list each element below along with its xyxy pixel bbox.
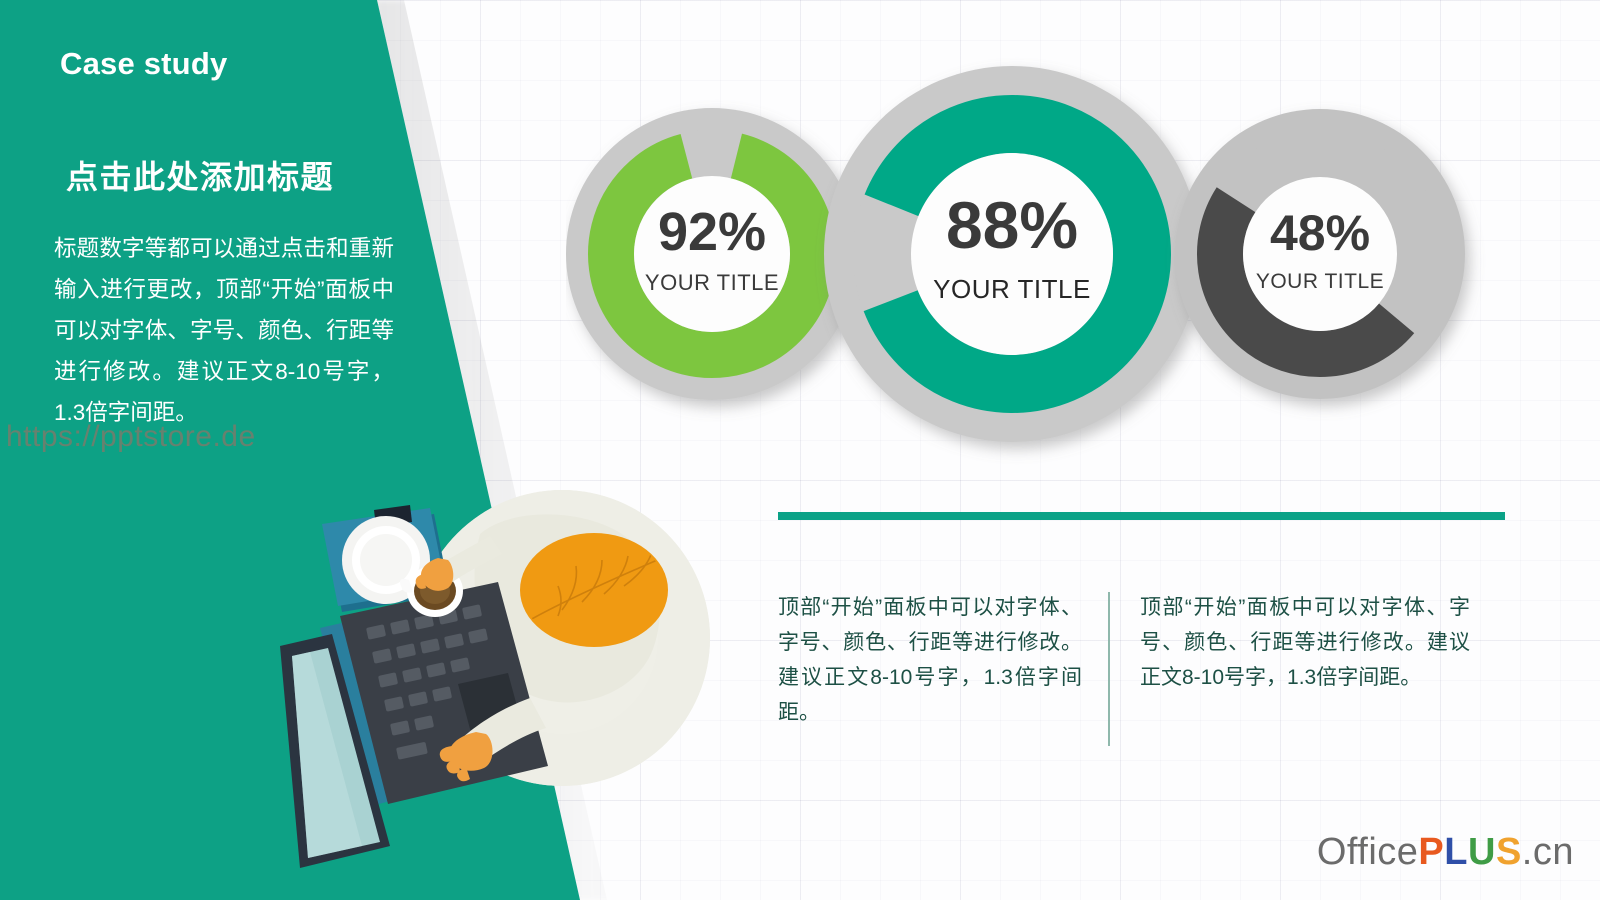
donut-center-value: 88% <box>946 188 1078 262</box>
section-divider-rule <box>778 512 1505 520</box>
donut-center[interactable]: 88% YOUR TITLE <box>824 66 1200 442</box>
logo-letter-l: L <box>1444 831 1468 873</box>
officeplus-logo[interactable]: OfficePLUS.cn <box>1317 831 1574 874</box>
page-title[interactable]: 点击此处添加标题 <box>66 152 334 198</box>
logo-domain: .cn <box>1522 831 1574 873</box>
bottom-column-2[interactable]: 顶部“开始”面板中可以对字体、字号、颜色、行距等进行修改。建议正文8-10号字，… <box>1140 590 1470 750</box>
column-divider <box>1108 592 1110 746</box>
desk-illustration <box>262 470 732 870</box>
donut-right-title: YOUR TITLE <box>1256 270 1384 293</box>
logo-office: Office <box>1317 831 1419 873</box>
logo-letter-s: S <box>1496 831 1522 873</box>
slide-canvas: Case study 点击此处添加标题 标题数字等都可以通过点击和重新输入进行更… <box>0 0 1600 900</box>
donut-chart-group: 92% YOUR TITLE 88% YOUR TITLE 48% YOUR T… <box>566 56 1506 466</box>
bottom-columns: 顶部“开始”面板中可以对字体、字号、颜色、行距等进行修改。建议正文8-10号字，… <box>778 590 1508 750</box>
logo-letter-u: U <box>1468 831 1496 873</box>
donut-center-title: YOUR TITLE <box>933 274 1091 304</box>
donut-right-value: 48% <box>1270 205 1370 261</box>
donut-right[interactable]: 48% YOUR TITLE <box>1175 109 1465 399</box>
logo-letter-p: P <box>1418 831 1444 873</box>
donut-left[interactable]: 92% YOUR TITLE <box>566 108 858 400</box>
bottom-column-1[interactable]: 顶部“开始”面板中可以对字体、字号、颜色、行距等进行修改。建议正文8-10号字，… <box>778 590 1108 750</box>
body-paragraph[interactable]: 标题数字等都可以通过点击和重新输入进行更改，顶部“开始”面板中可以对字体、字号、… <box>54 228 394 433</box>
donut-left-value: 92% <box>658 202 766 262</box>
eyebrow-label: Case study <box>60 46 227 82</box>
donut-left-title: YOUR TITLE <box>645 270 779 295</box>
